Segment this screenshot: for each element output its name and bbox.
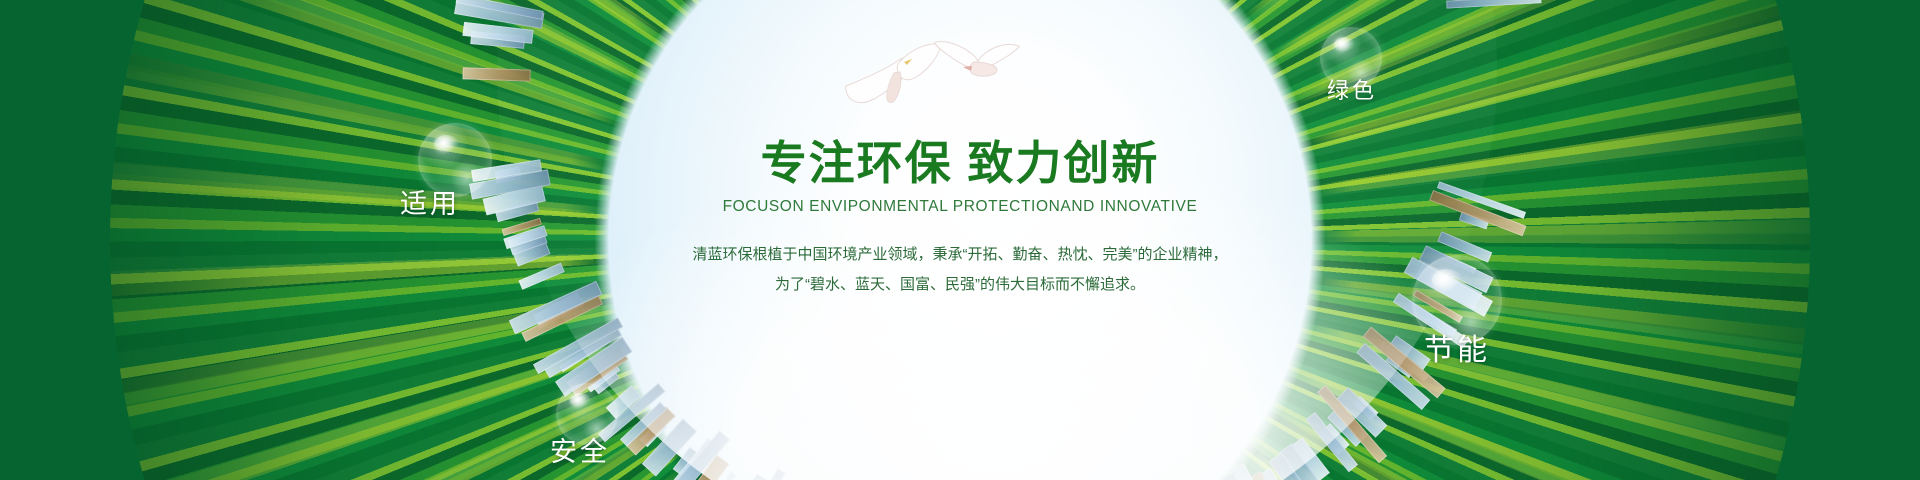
banner-headline: 专注环保 致力创新 [0,127,1920,193]
banner-subtitle: FOCUSON ENVIPONMENTAL PROTECTIONAND INNO… [0,198,1920,216]
banner-paragraph: 清蓝环保根植于中国环境产业领域，秉承“开拓、勤奋、热忱、完美”的企业精神， 为了… [0,240,1920,300]
paragraph-line-1: 清蓝环保根植于中国环境产业领域，秉承“开拓、勤奋、热忱、完美”的企业精神， [0,240,1920,270]
bubble-label-green: 绿色 [1327,73,1377,105]
bubble-label-applicable: 适用 [400,182,460,221]
bubble-label-safety: 安全 [550,430,610,469]
bird-icon [932,32,1022,88]
paragraph-line-2: 为了“碧水、蓝天、国富、民强”的伟大目标而不懈追求。 [0,270,1920,300]
hero-banner: 专注环保 致力创新 FOCUSON ENVIPONMENTAL PROTECTI… [0,0,1920,480]
bubble-label-energy-saving: 节能 [1424,325,1490,369]
